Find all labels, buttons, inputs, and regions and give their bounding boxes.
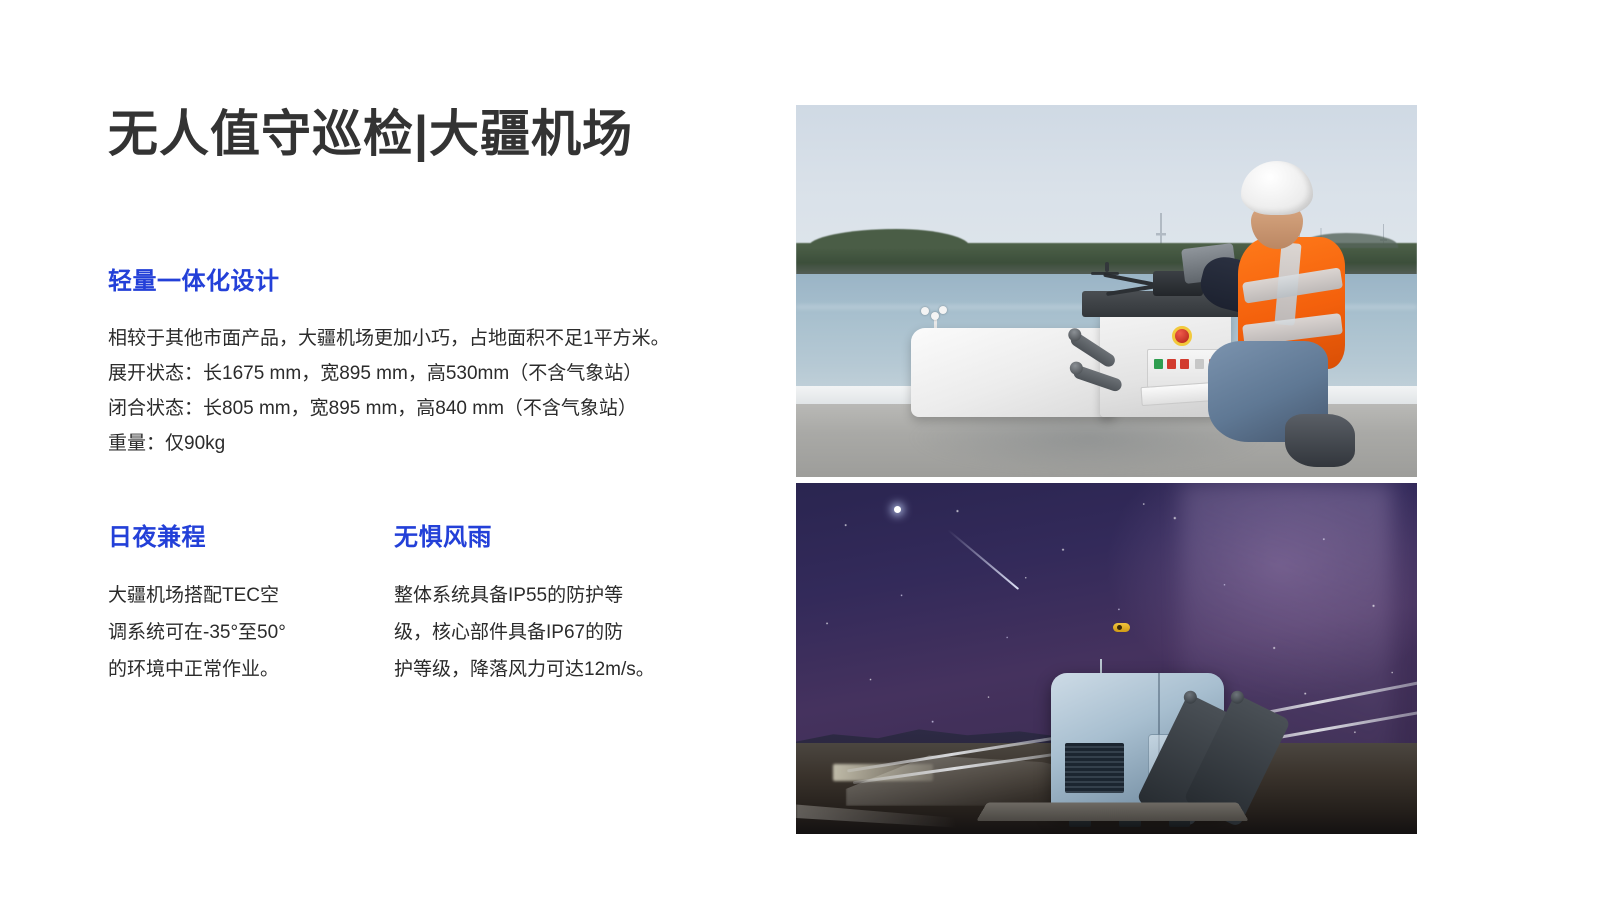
concrete-foundation-pad [977, 802, 1249, 820]
feature-block-daynight: 日夜兼程 大疆机场搭配TEC空 调系统可在-35°至50° 的环境中正常作业。 [108, 522, 394, 688]
anemometer-cup [931, 312, 939, 320]
feature-block-weatherproof: 无惧风雨 整体系统具备IP55的防护等 级，核心部件具备IP67的防 护等级，降… [394, 522, 694, 688]
feature-row: 日夜兼程 大疆机场搭配TEC空 调系统可在-35°至50° 的环境中正常作业。 … [108, 522, 728, 688]
feature-block-lightweight: 轻量一体化设计 相较于其他市面产品，大疆机场更加小巧，占地面积不足1平方米。 展… [108, 266, 728, 461]
dock-night-photo [796, 483, 1417, 834]
field-operator-figure [1169, 161, 1417, 477]
daynight-line-3: 的环境中正常作业。 [108, 651, 394, 688]
feature-line-unfolded-dimensions: 展开状态：长1675 mm，宽895 mm，高530mm（不含气象站） [108, 356, 728, 391]
daynight-line-1: 大疆机场搭配TEC空 [108, 577, 394, 614]
section-heading-daynight: 日夜兼程 [108, 522, 394, 553]
page-title: 无人值守巡检|大疆机场 [108, 104, 728, 164]
dock-indicator-badge [1113, 623, 1130, 632]
weatherproof-line-2: 级，核心部件具备IP67的防 [394, 614, 694, 651]
status-led-green [1154, 359, 1163, 369]
safety-helmet [1241, 161, 1313, 215]
section-heading-weatherproof: 无惧风雨 [394, 522, 694, 553]
feature-line-intro: 相较于其他市面产品，大疆机场更加小巧，占地面积不足1平方米。 [108, 321, 728, 356]
drone-boom [1106, 284, 1159, 296]
dock-vent-grille [1065, 743, 1124, 794]
image-column [796, 105, 1417, 834]
feature-line-weight: 重量：仅90kg [108, 426, 728, 461]
weatherproof-line-1: 整体系统具备IP55的防护等 [394, 577, 694, 614]
text-column: 无人值守巡检|大疆机场 轻量一体化设计 相较于其他市面产品，大疆机场更加小巧，占… [108, 104, 728, 164]
feature-line-folded-dimensions: 闭合状态：长805 mm，宽895 mm，高840 mm（不含气象站） [108, 391, 728, 426]
drone-propeller [1091, 272, 1119, 275]
weatherproof-line-3: 护等级，降落风力可达12m/s。 [394, 651, 694, 688]
dock-daytime-photo [796, 105, 1417, 477]
operator-boot [1285, 414, 1355, 468]
bright-star-icon [894, 506, 901, 513]
anemometer-cup [939, 306, 947, 314]
section-heading-lightweight: 轻量一体化设计 [108, 266, 728, 297]
daynight-body: 大疆机场搭配TEC空 调系统可在-35°至50° 的环境中正常作业。 [108, 577, 394, 688]
daynight-line-2: 调系统可在-35°至50° [108, 614, 394, 651]
slide-root: 无人值守巡检|大疆机场 轻量一体化设计 相较于其他市面产品，大疆机场更加小巧，占… [0, 0, 1600, 900]
anemometer-cup [921, 307, 929, 315]
weatherproof-body: 整体系统具备IP55的防护等 级，核心部件具备IP67的防 护等级，降落风力可达… [394, 577, 694, 688]
drone-motor [1105, 262, 1109, 273]
